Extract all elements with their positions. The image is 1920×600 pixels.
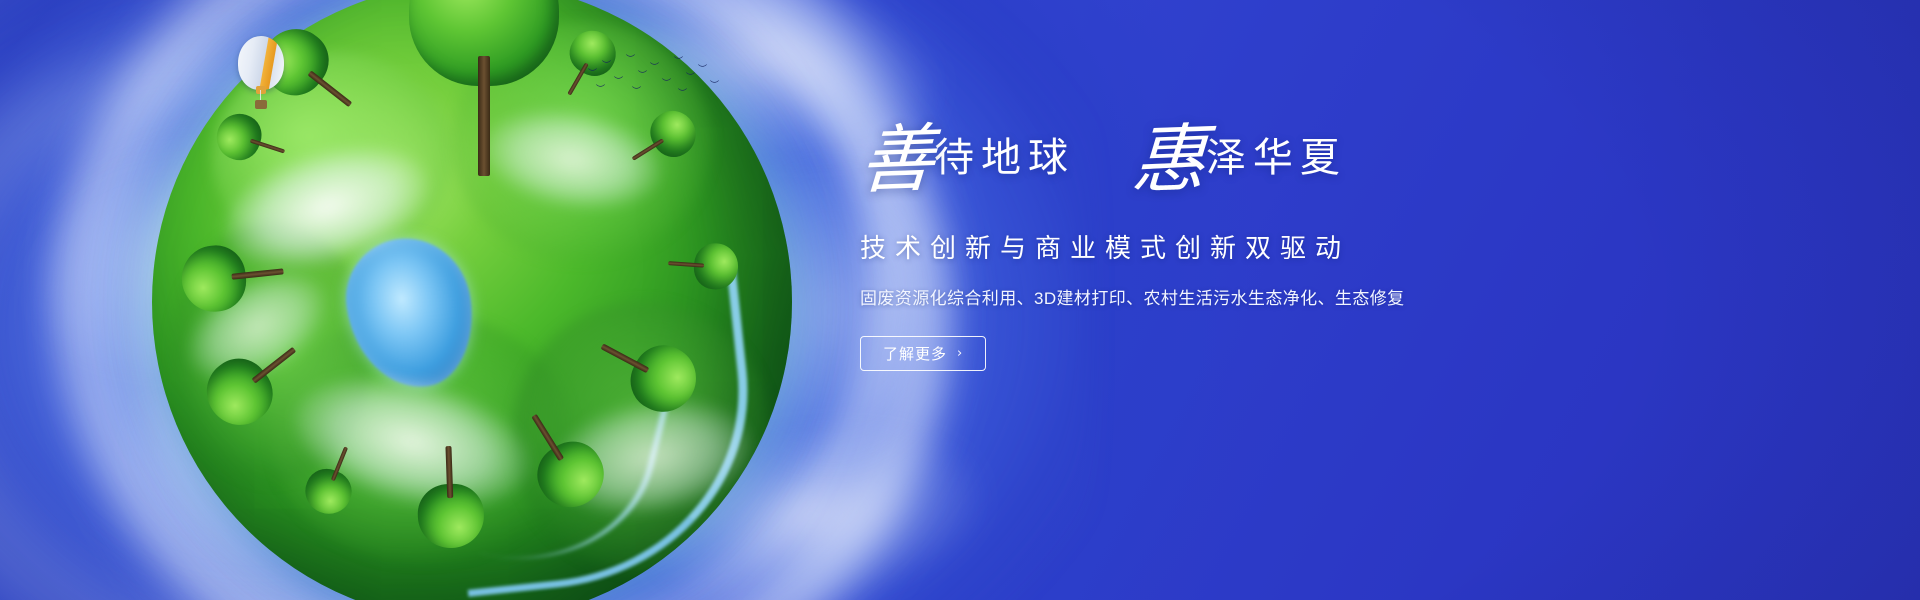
headline-phrase-2: 惠泽华夏 bbox=[1132, 124, 1347, 198]
bird-glyph: ︶ bbox=[686, 74, 695, 83]
planet-terrain-patch bbox=[172, 222, 372, 482]
bird-glyph: ︶ bbox=[614, 78, 623, 87]
planet-terrain-patch bbox=[272, 312, 572, 562]
planet-lake bbox=[338, 230, 482, 396]
bird-glyph: ︶ bbox=[638, 72, 647, 81]
tree-canopy bbox=[179, 242, 250, 314]
tree-trunk bbox=[668, 261, 704, 268]
tree-canopy bbox=[194, 347, 285, 438]
hot-air-balloon-icon bbox=[238, 36, 284, 112]
tree-canopy bbox=[642, 102, 704, 164]
tree-trunk bbox=[331, 446, 348, 481]
bird-glyph: ︶ bbox=[632, 88, 641, 97]
planet-terrain-patch bbox=[512, 302, 772, 572]
bird-glyph: ︶ bbox=[650, 64, 659, 73]
tree-trunk bbox=[567, 62, 588, 95]
planet-cloud bbox=[544, 385, 760, 528]
headline-char-large-2: 惠 bbox=[1130, 123, 1208, 200]
tree-canopy bbox=[693, 242, 740, 291]
tree-canopy bbox=[409, 0, 559, 86]
bird-glyph: ︶ bbox=[678, 90, 687, 99]
learn-more-label: 了解更多 bbox=[883, 343, 947, 364]
banner-subtitle: 技术创新与商业模式创新双驱动 bbox=[860, 232, 1480, 265]
planet-river bbox=[437, 267, 767, 597]
planet-cloud bbox=[281, 355, 543, 529]
cloud-wisp bbox=[630, 407, 990, 600]
headline-phrase-1: 善待地球 bbox=[860, 124, 1075, 198]
tree-trunk bbox=[601, 343, 650, 373]
bird-glyph: ︶ bbox=[662, 80, 671, 89]
bird-glyph: ︶ bbox=[674, 58, 683, 67]
flying-birds-icon: ︶ ︶ ︶ ︶ ︶ ︶ ︶ ︶ ︶ ︶ ︶ ︶ ︶ ︶ bbox=[588, 48, 728, 96]
bird-glyph: ︶ bbox=[602, 62, 611, 71]
tree-canopy bbox=[299, 463, 358, 521]
learn-more-button[interactable]: 了解更多 › bbox=[860, 336, 986, 371]
banner-description: 固废资源化综合利用、3D建材打印、农村生活污水生态净化、生态修复 bbox=[860, 287, 1480, 311]
bird-glyph: ︶ bbox=[588, 70, 597, 79]
cloud-wisp bbox=[3, 61, 477, 419]
tree-trunk bbox=[250, 139, 285, 154]
chevron-right-icon: › bbox=[957, 347, 963, 360]
planet-cloud bbox=[475, 97, 669, 222]
headline-text-small-2: 泽华夏 bbox=[1206, 138, 1347, 178]
tree-trunk bbox=[531, 414, 564, 461]
tree-trunk bbox=[308, 70, 353, 107]
banner-headline: 善待地球 惠泽华夏 bbox=[860, 124, 1480, 216]
tree-trunk bbox=[252, 347, 297, 384]
bird-glyph: ︶ bbox=[698, 66, 707, 75]
tree-trunk bbox=[231, 268, 283, 279]
balloon-envelope bbox=[238, 36, 284, 90]
planet-halo bbox=[82, 0, 862, 600]
headline-text-small-1: 待地球 bbox=[934, 138, 1075, 178]
banner-content: 善待地球 惠泽华夏 技术创新与商业模式创新双驱动 固废资源化综合利用、3D建材打… bbox=[860, 124, 1480, 371]
bird-glyph: ︶ bbox=[626, 56, 635, 65]
tree-canopy bbox=[417, 483, 485, 549]
headline-char-large-1: 善 bbox=[858, 123, 936, 200]
bird-glyph: ︶ bbox=[596, 86, 605, 95]
planet-cloud bbox=[211, 125, 443, 289]
cloud-wisp bbox=[102, 338, 619, 600]
cloud-swirl-ring-2 bbox=[0, 0, 1000, 600]
balloon-basket bbox=[255, 100, 267, 109]
tree-canopy bbox=[526, 430, 616, 519]
tree-canopy bbox=[211, 108, 267, 165]
tree-trunk bbox=[478, 56, 490, 176]
tree-trunk bbox=[632, 138, 665, 160]
tree-canopy bbox=[620, 335, 707, 423]
hero-banner: ︶ ︶ ︶ ︶ ︶ ︶ ︶ ︶ ︶ ︶ ︶ ︶ ︶ ︶ 善待地球 惠泽华夏 技术… bbox=[0, 0, 1920, 600]
bird-glyph: ︶ bbox=[710, 82, 719, 91]
planet-cloud bbox=[170, 251, 345, 404]
tree-trunk bbox=[445, 446, 453, 498]
planet-river-branch bbox=[380, 325, 673, 589]
